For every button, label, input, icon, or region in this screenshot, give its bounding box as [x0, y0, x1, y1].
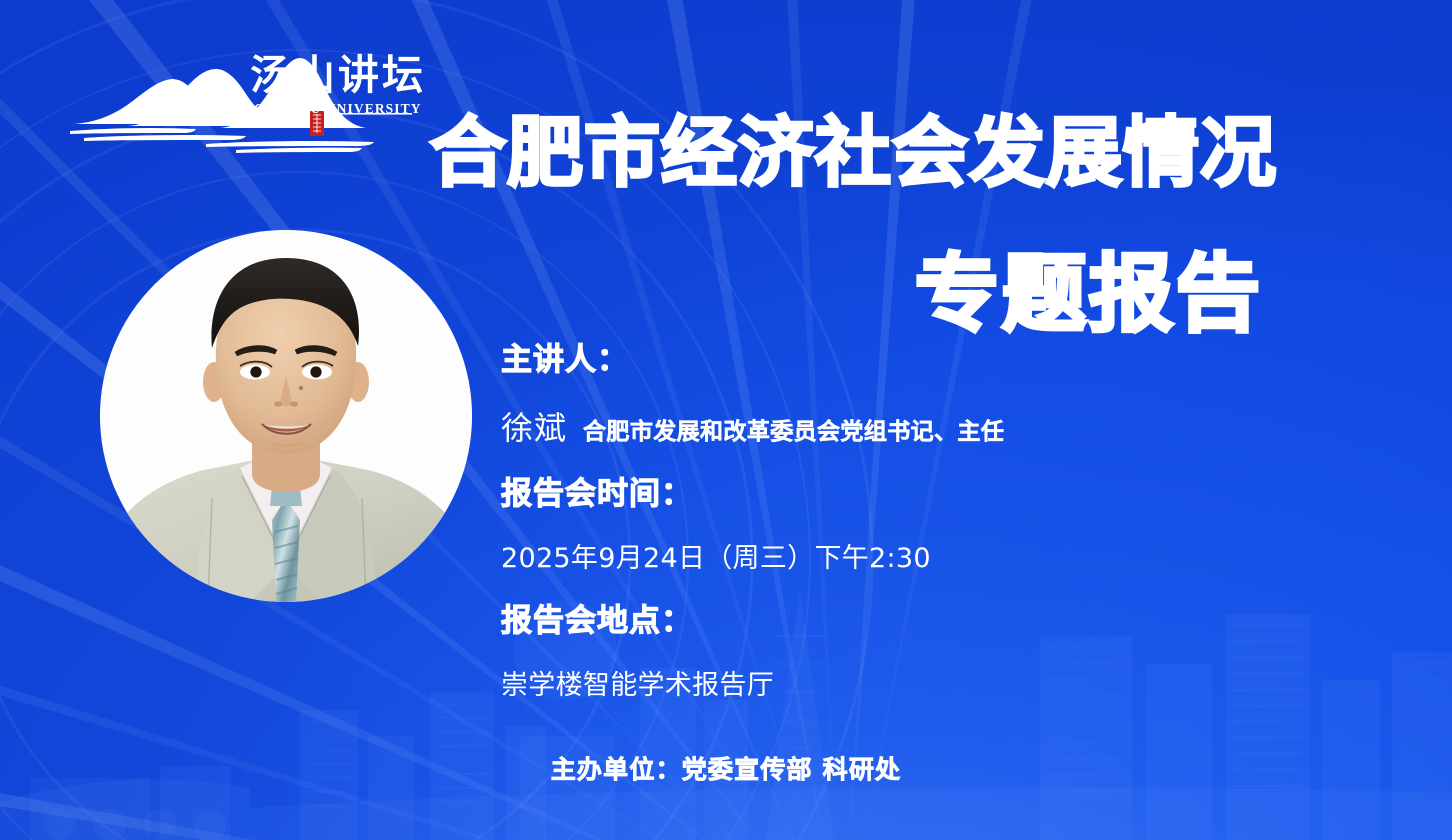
page-title-line1: 合肥市经济社会发展情况 [430, 115, 1277, 191]
event-details: 主讲人： 徐斌 合肥市发展和改革委员会党组书记、主任 报告会时间： 2025年9… [501, 345, 1391, 699]
place-value: 崇学楼智能学术报告厅 [501, 672, 1391, 699]
logo-name-cn: 汤山讲坛 [250, 55, 426, 96]
logo-name-en: CHAOHU UNIVERSITY [254, 102, 422, 116]
time-value: 2025年9月24日（周三）下午2:30 [501, 545, 1391, 572]
time-label: 报告会时间： [501, 479, 1391, 510]
organizer-footer: 主办单位：党委宣传部 科研处 [0, 757, 1452, 782]
page-title-line2: 专题报告 [915, 252, 1263, 336]
speaker-title: 合肥市发展和改革委员会党组书记、主任 [583, 421, 1004, 444]
event-poster: 汤山讲坛 CHAOHU UNIVERSITY 合肥市经济社会发展情况 专题报告 [0, 0, 1452, 840]
speaker-label: 主讲人： [501, 345, 1391, 376]
place-label: 报告会地点： [501, 606, 1391, 637]
speaker-name: 徐斌 [501, 412, 567, 444]
speaker-portrait-photo [100, 230, 472, 602]
chaohu-university-logo: 汤山讲坛 CHAOHU UNIVERSITY [68, 52, 413, 156]
speaker-row: 徐斌 合肥市发展和改革委员会党组书记、主任 [501, 412, 1391, 444]
avatar [100, 230, 472, 602]
